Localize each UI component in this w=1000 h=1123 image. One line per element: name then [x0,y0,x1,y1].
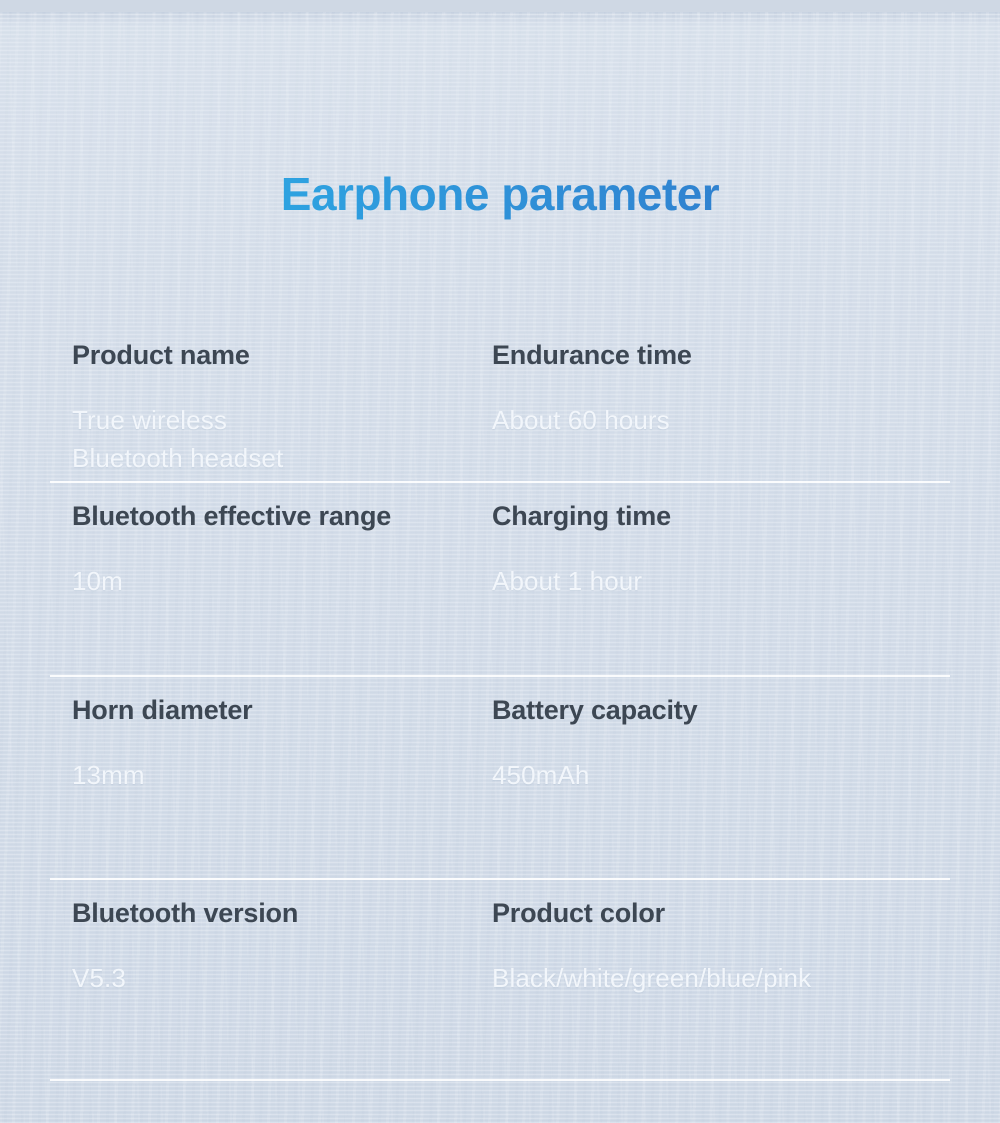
table-row: Bluetooth effective range 10m Charging t… [50,483,950,677]
spec-cell-bluetooth-version: Bluetooth version V5.3 [50,880,490,1079]
spec-value: V5.3 [72,959,480,997]
spec-label: Battery capacity [492,693,940,727]
top-edge-strip [0,0,1000,12]
earphone-parameter-page: Earphone parameter Product name True wir… [0,0,1000,1123]
table-row: Horn diameter 13mm Battery capacity 450m… [50,677,950,880]
page-title: Earphone parameter [0,165,1000,223]
spec-cell-charging-time: Charging time About 1 hour [490,483,950,675]
spec-value: 10m [72,562,480,600]
spec-label: Endurance time [492,338,940,372]
spec-label: Product name [72,338,480,372]
spec-label: Bluetooth effective range [72,499,480,533]
spec-cell-bluetooth-effective-range: Bluetooth effective range 10m [50,483,490,675]
spec-value: 13mm [72,756,480,794]
spec-value: Black/white/green/blue/pink [492,959,940,997]
spec-value: 450mAh [492,756,940,794]
spec-cell-product-name: Product name True wireless Bluetooth hea… [50,322,490,481]
spec-cell-product-color: Product color Black/white/green/blue/pin… [490,880,950,1079]
spec-value: About 60 hours [492,401,940,439]
spec-label: Charging time [492,499,940,533]
spec-cell-endurance-time: Endurance time About 60 hours [490,322,950,481]
spec-label: Bluetooth version [72,896,480,930]
table-row: Product name True wireless Bluetooth hea… [50,322,950,483]
spec-value: About 1 hour [492,562,940,600]
spec-label: Product color [492,896,940,930]
spec-cell-battery-capacity: Battery capacity 450mAh [490,677,950,878]
spec-value: True wireless Bluetooth headset [72,401,480,477]
table-row: Bluetooth version V5.3 Product color Bla… [50,880,950,1081]
spec-label: Horn diameter [72,693,480,727]
specification-table: Product name True wireless Bluetooth hea… [50,322,950,1081]
spec-cell-horn-diameter: Horn diameter 13mm [50,677,490,878]
